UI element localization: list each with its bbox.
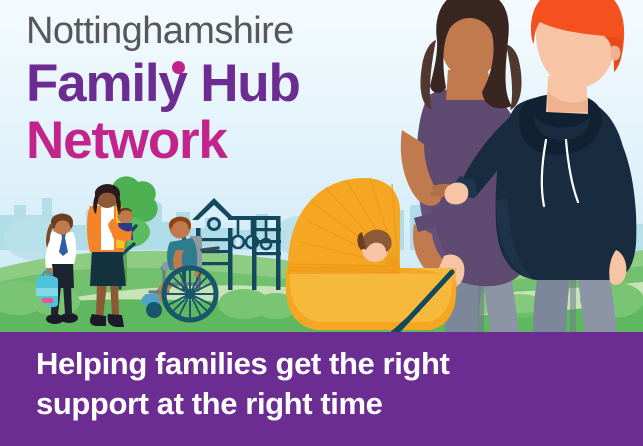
- i-dot-accent: [172, 61, 185, 74]
- wordmark-line1: Family Hub: [26, 54, 300, 113]
- strapline-line1: Helping families get the right: [36, 344, 596, 384]
- strapline-text: Helping families get the right support a…: [36, 344, 596, 424]
- wordmark-line1-text: Family Hub: [26, 54, 300, 113]
- strapline-line2: support at the right time: [36, 384, 596, 424]
- family-hub-network-banner: Nottinghamshire Family Hub Network Helpi…: [0, 0, 643, 446]
- wordmark: Nottinghamshire Family Hub Network: [26, 8, 300, 169]
- wordmark-county: Nottinghamshire: [26, 8, 300, 54]
- strapline-banner: Helping families get the right support a…: [0, 332, 643, 446]
- wordmark-line2: Network: [26, 113, 300, 169]
